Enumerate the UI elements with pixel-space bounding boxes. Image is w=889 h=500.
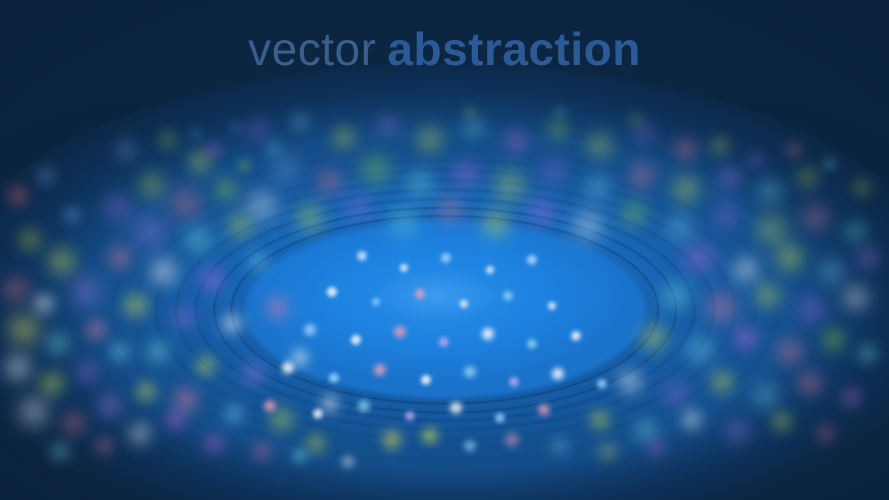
bokeh-particle bbox=[358, 400, 370, 412]
bokeh-particle bbox=[20, 230, 40, 250]
bokeh-particle bbox=[372, 298, 380, 306]
bokeh-particle bbox=[48, 334, 68, 354]
bokeh-particle bbox=[186, 228, 210, 252]
bokeh-particle bbox=[636, 420, 656, 440]
bokeh-particle bbox=[464, 366, 476, 378]
bokeh-particle bbox=[709, 295, 735, 321]
bokeh-particle bbox=[347, 197, 369, 219]
bokeh-particle bbox=[249, 121, 267, 139]
bokeh-particle bbox=[755, 385, 777, 407]
bokeh-particle bbox=[455, 163, 477, 185]
bokeh-particle bbox=[272, 410, 292, 430]
bokeh-particle bbox=[591, 411, 609, 429]
bokeh-particle bbox=[439, 337, 449, 347]
bokeh-particle bbox=[267, 141, 281, 155]
bokeh-particle bbox=[712, 138, 728, 154]
bokeh-particle bbox=[589, 135, 611, 157]
bokeh-particle bbox=[720, 168, 740, 188]
bokeh-particle bbox=[664, 284, 688, 308]
bokeh-particle bbox=[749, 153, 763, 167]
bokeh-particle bbox=[552, 438, 568, 454]
bokeh-particle bbox=[586, 176, 610, 200]
bokeh-particle bbox=[357, 251, 367, 261]
bokeh-particle bbox=[313, 409, 323, 419]
bokeh-particle bbox=[160, 132, 176, 148]
bokeh-particle bbox=[441, 253, 451, 263]
bokeh-particle bbox=[805, 207, 827, 229]
bokeh-particle bbox=[197, 357, 215, 375]
bokeh-particle bbox=[216, 180, 236, 200]
bokeh-particle bbox=[207, 143, 221, 157]
bokeh-particle bbox=[460, 300, 468, 308]
bokeh-particle bbox=[329, 373, 339, 383]
bokeh-particle bbox=[238, 160, 250, 172]
bokeh-particle bbox=[110, 248, 130, 268]
bokeh-particle bbox=[391, 209, 417, 235]
bokeh-particle bbox=[631, 165, 653, 187]
bokeh-particle bbox=[111, 343, 129, 361]
bokeh-particle bbox=[190, 152, 210, 172]
bokeh-particle bbox=[167, 411, 185, 429]
bokeh-particle bbox=[843, 389, 861, 407]
bokeh-particle bbox=[307, 435, 325, 453]
bokeh-particle bbox=[35, 295, 53, 313]
bokeh-particle bbox=[293, 449, 307, 463]
bokeh-particle bbox=[497, 173, 523, 199]
bokeh-particle bbox=[174, 308, 194, 328]
bokeh-particle bbox=[465, 107, 475, 117]
bokeh-particle bbox=[264, 400, 276, 412]
bokeh-particle bbox=[152, 260, 176, 284]
title-light-word: vector bbox=[248, 23, 376, 75]
bokeh-particle bbox=[244, 364, 264, 384]
bokeh-particle bbox=[268, 298, 288, 318]
bokeh-particle bbox=[799, 169, 817, 187]
bokeh-particle bbox=[292, 350, 308, 366]
bokeh-particle bbox=[854, 180, 870, 196]
bokeh-particle bbox=[87, 321, 105, 339]
bokeh-particle bbox=[231, 123, 241, 133]
bokeh-particle bbox=[73, 279, 99, 305]
bokeh-particle bbox=[543, 161, 565, 183]
bokeh-particle bbox=[620, 372, 640, 392]
bokeh-particle bbox=[400, 264, 408, 272]
bokeh-particle bbox=[9, 187, 27, 205]
bokeh-particle bbox=[342, 456, 354, 468]
particle-field bbox=[0, 0, 889, 500]
abstraction-canvas: vectorabstraction bbox=[0, 0, 889, 500]
bokeh-particle bbox=[688, 338, 712, 362]
bokeh-particle bbox=[173, 191, 199, 217]
bokeh-particle bbox=[482, 328, 494, 340]
bokeh-particle bbox=[99, 395, 121, 417]
bokeh-particle bbox=[683, 411, 701, 429]
bokeh-particle bbox=[845, 287, 867, 309]
bokeh-particle bbox=[334, 128, 354, 148]
bokeh-particle bbox=[635, 125, 653, 143]
bokeh-particle bbox=[21, 399, 47, 425]
bokeh-particle bbox=[65, 208, 79, 222]
bokeh-particle bbox=[394, 326, 406, 338]
bokeh-particle bbox=[668, 216, 692, 240]
bokeh-particle bbox=[818, 426, 834, 442]
bokeh-particle bbox=[800, 298, 824, 322]
bokeh-particle bbox=[51, 443, 69, 461]
bokeh-particle bbox=[503, 291, 513, 301]
bokeh-particle bbox=[125, 295, 147, 317]
bokeh-particle bbox=[757, 285, 779, 307]
bokeh-particle bbox=[630, 114, 642, 126]
bokeh-particle bbox=[106, 196, 130, 220]
bokeh-particle bbox=[759, 217, 785, 243]
bokeh-particle bbox=[859, 345, 877, 363]
bokeh-particle bbox=[465, 119, 483, 137]
title-bold-word: abstraction bbox=[387, 23, 640, 75]
bokeh-particle bbox=[175, 389, 197, 411]
bokeh-particle bbox=[50, 250, 74, 274]
bokeh-particle bbox=[6, 356, 30, 380]
bokeh-particle bbox=[575, 213, 601, 239]
bokeh-particle bbox=[687, 245, 713, 271]
bokeh-particle bbox=[379, 117, 397, 135]
bokeh-particle bbox=[779, 341, 801, 363]
bokeh-particle bbox=[41, 373, 63, 395]
bokeh-particle bbox=[821, 261, 843, 283]
bokeh-particle bbox=[506, 132, 526, 152]
bokeh-particle bbox=[304, 324, 316, 336]
bokeh-particle bbox=[141, 175, 163, 197]
bokeh-particle bbox=[665, 383, 687, 405]
bokeh-particle bbox=[254, 444, 270, 460]
bokeh-particle bbox=[549, 121, 567, 139]
bokeh-particle bbox=[422, 428, 438, 444]
bokeh-particle bbox=[555, 107, 565, 117]
bokeh-particle bbox=[408, 172, 432, 196]
bokeh-particle bbox=[735, 259, 757, 281]
bokeh-particle bbox=[229, 215, 251, 237]
bokeh-particle bbox=[648, 440, 664, 456]
bokeh-particle bbox=[715, 205, 737, 227]
bokeh-particle bbox=[292, 114, 308, 130]
bokeh-particle bbox=[676, 140, 696, 160]
bokeh-particle bbox=[383, 431, 401, 449]
bokeh-particle bbox=[674, 178, 698, 202]
bokeh-particle bbox=[223, 315, 241, 333]
bokeh-particle bbox=[712, 372, 732, 392]
bokeh-particle bbox=[225, 405, 243, 423]
bokeh-particle bbox=[846, 222, 866, 242]
bokeh-particle bbox=[148, 342, 168, 362]
bokeh-particle bbox=[552, 368, 564, 380]
bokeh-particle bbox=[531, 201, 553, 223]
bokeh-particle bbox=[600, 444, 616, 460]
bokeh-particle bbox=[509, 377, 519, 387]
bokeh-particle bbox=[419, 129, 441, 151]
bokeh-particle bbox=[464, 440, 476, 452]
page-title: vectorabstraction bbox=[0, 24, 889, 75]
bokeh-particle bbox=[351, 335, 361, 345]
bokeh-particle bbox=[202, 270, 222, 290]
bokeh-particle bbox=[495, 413, 505, 423]
bokeh-particle bbox=[405, 411, 415, 421]
bokeh-particle bbox=[597, 379, 607, 389]
bokeh-particle bbox=[623, 203, 645, 225]
bokeh-particle bbox=[78, 362, 98, 382]
bokeh-particle bbox=[64, 414, 84, 434]
bokeh-particle bbox=[38, 168, 54, 184]
bokeh-particle bbox=[858, 248, 878, 268]
bokeh-particle bbox=[10, 316, 38, 344]
bokeh-particle bbox=[298, 206, 322, 230]
bokeh-particle bbox=[759, 181, 781, 203]
bokeh-particle bbox=[778, 246, 802, 270]
bokeh-particle bbox=[736, 328, 756, 348]
bokeh-particle bbox=[117, 141, 135, 159]
bokeh-particle bbox=[824, 330, 844, 350]
bokeh-particle bbox=[137, 383, 155, 401]
bokeh-particle bbox=[787, 143, 801, 157]
bokeh-particle bbox=[191, 129, 201, 139]
bokeh-particle bbox=[505, 433, 519, 447]
bokeh-particle bbox=[439, 199, 461, 221]
bokeh-particle bbox=[374, 364, 386, 376]
bokeh-particle bbox=[205, 435, 223, 453]
bokeh-particle bbox=[282, 362, 294, 374]
bokeh-particle bbox=[824, 158, 836, 170]
bokeh-particle bbox=[274, 158, 298, 182]
bokeh-particle bbox=[319, 171, 341, 193]
bokeh-particle bbox=[643, 327, 665, 349]
bokeh-particle bbox=[527, 339, 537, 349]
bokeh-particle bbox=[486, 266, 494, 274]
bokeh-particle bbox=[5, 279, 27, 301]
bokeh-particle bbox=[249, 253, 267, 271]
bokeh-particle bbox=[800, 374, 820, 394]
bokeh-particle bbox=[773, 413, 791, 431]
bokeh-particle bbox=[538, 404, 550, 416]
bokeh-particle bbox=[327, 287, 337, 297]
bokeh-particle bbox=[415, 289, 425, 299]
bokeh-particle bbox=[548, 302, 556, 310]
bokeh-particle bbox=[728, 422, 748, 442]
bokeh-particle bbox=[527, 255, 537, 265]
bokeh-particle bbox=[249, 193, 275, 219]
bokeh-particle bbox=[421, 375, 431, 385]
bokeh-particle bbox=[363, 157, 389, 183]
bokeh-particle bbox=[484, 212, 508, 236]
bokeh-particle bbox=[322, 396, 338, 412]
bokeh-particle bbox=[96, 438, 112, 454]
bokeh-particle bbox=[571, 331, 581, 341]
bokeh-particle bbox=[136, 218, 164, 246]
bokeh-particle bbox=[450, 402, 462, 414]
bokeh-particle bbox=[130, 424, 150, 444]
